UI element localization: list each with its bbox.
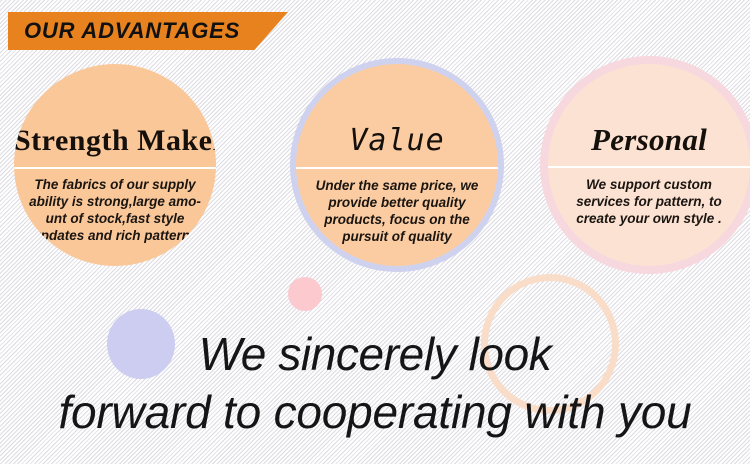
advantages-poster: OUR ADVANTAGES Strength Maker The fabric… <box>0 0 750 464</box>
advantage-card-strength-maker: Strength Maker The fabrics of our supply… <box>14 64 216 266</box>
advantage-card-value: Value Under the same price, we provide b… <box>296 64 498 266</box>
advantage-description: Under the same price, we provide better … <box>296 169 498 246</box>
closing-statement-line-2: forward to cooperating with you <box>0 383 750 441</box>
advantage-description: The fabrics of our supply ability is str… <box>14 169 216 245</box>
section-title: OUR ADVANTAGES <box>8 20 240 42</box>
advantage-heading: Value <box>296 126 498 156</box>
closing-statement-line-1: We sincerely look <box>0 325 750 383</box>
closing-statement: We sincerely look forward to cooperating… <box>0 325 750 442</box>
advantage-card-personal: Personal We support custom services for … <box>548 64 750 266</box>
section-header-banner: OUR ADVANTAGES <box>8 12 288 50</box>
advantage-heading: Personal <box>548 124 750 155</box>
pink-dot-decoration <box>288 277 322 311</box>
advantage-description: We support custom services for pattern, … <box>548 168 750 227</box>
advantage-heading: Strength Maker <box>14 126 216 156</box>
